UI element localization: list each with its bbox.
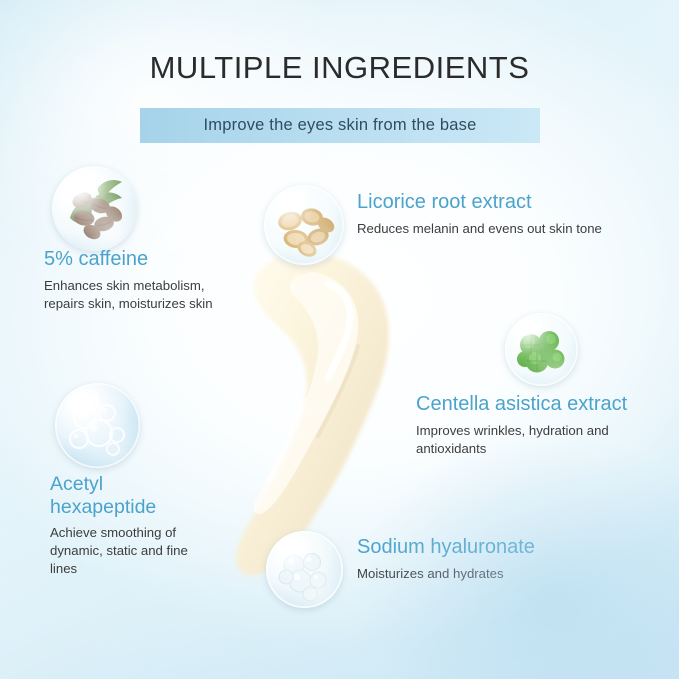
ingredient-description: Moisturizes and hydrates [357,565,607,583]
ingredient-description: Achieve smoothing of dynamic, static and… [50,524,210,579]
coffee-beans-icon [52,166,137,251]
ingredient-description: Reduces melanin and evens out skin tone [357,220,662,238]
page-title: MULTIPLE INGREDIENTS [0,50,679,86]
ingredient-sodium-hyaluronate: Sodium hyaluronate Moisturizes and hydra… [357,536,607,583]
water-bubbles-icon [55,383,140,468]
ingredient-description: Enhances skin metabolism, repairs skin, … [44,277,219,313]
ingredient-centella: Centella asistica extract Improves wrink… [416,393,631,458]
green-leaves-icon [505,313,578,386]
ingredient-name: Acetyl hexapeptide [50,473,210,519]
clear-gel-beads-icon [266,531,343,608]
subtitle-banner: Improve the eyes skin from the base [140,108,540,143]
eye-cream-swatch [208,250,423,580]
ingredients-poster: MULTIPLE INGREDIENTS Improve the eyes sk… [0,0,679,679]
ingredient-name: Licorice root extract [357,191,662,215]
ingredient-licorice: Licorice root extract Reduces melanin an… [357,191,662,238]
licorice-root-slices-icon [264,185,344,265]
ingredient-description: Improves wrinkles, hydration and antioxi… [416,422,631,458]
ingredient-name: Sodium hyaluronate [357,536,607,560]
ingredient-acetyl-hexapeptide: Acetyl hexapeptide Achieve smoothing of … [50,473,210,579]
ingredient-name: Centella asistica extract [416,393,631,417]
ingredient-caffeine: 5% caffeine Enhances skin metabolism, re… [44,248,219,313]
ingredient-name: 5% caffeine [44,248,219,272]
subtitle-text: Improve the eyes skin from the base [204,116,477,135]
